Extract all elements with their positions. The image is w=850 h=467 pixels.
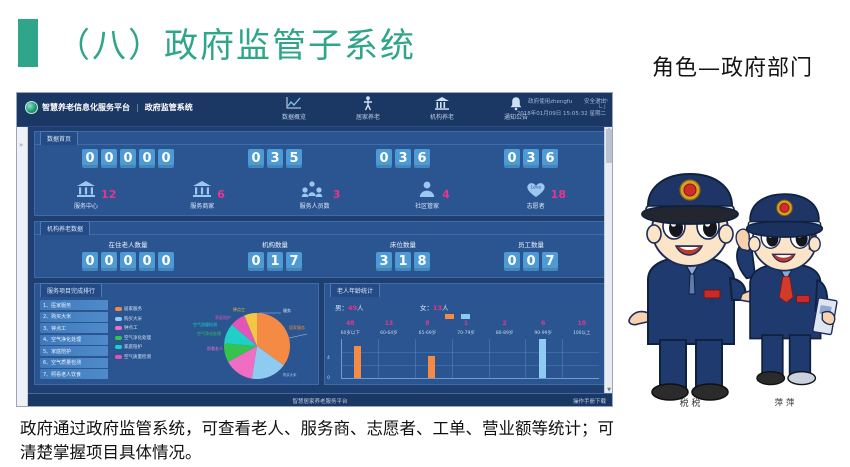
nav-label: 数据概览 <box>272 112 316 121</box>
stat-volunteer[interactable]: Love 志愿者 18 <box>489 178 601 210</box>
counter-digits: 0 0 0 0 0 <box>82 252 174 271</box>
list-item[interactable]: 6、空气质量检测 <box>40 358 108 368</box>
female-count: 女：13人 <box>420 302 449 312</box>
axis-tick: 80-89岁 <box>485 330 524 336</box>
legend-entry: 购买大米 <box>115 316 151 322</box>
overview-counters: 0 0 0 0 0 0 3 5 <box>35 145 605 174</box>
legend-label: 家庭陪护 <box>124 344 142 350</box>
legend-swatch <box>115 355 122 359</box>
dashboard-topnav: 智慧养老信息化服务平台 | 政府监管系统 数据概览 居家养老 <box>17 93 612 127</box>
legend-label: 钟点工 <box>124 325 138 331</box>
unit: 人 <box>442 304 449 312</box>
legend-label: 购买大米 <box>124 316 142 322</box>
axis-tick: 65-69岁 <box>408 330 447 336</box>
overview-tabrow: 数据首页 <box>35 132 605 145</box>
scrollbar-thumb[interactable] <box>606 129 612 163</box>
service-rank-list: 1、医家服务 2、购买大米 3、钟点工 4、空气净化处理 5、家庭陪护 6、空气… <box>40 300 108 381</box>
dashboard-screenshot: 智慧养老信息化服务平台 | 政府监管系统 数据概览 居家养老 <box>16 92 613 407</box>
digit: 7 <box>286 252 302 271</box>
bar-value-labels: 48 13 8 1 2 6 10 <box>331 320 601 327</box>
legend-swatch <box>115 345 122 349</box>
brand: 智慧养老信息化服务平台 | 政府监管系统 <box>25 101 193 114</box>
legend-label: 空气质量检测 <box>124 354 151 360</box>
list-item[interactable]: 1、医家服务 <box>40 300 108 310</box>
legend-swatch <box>115 307 122 311</box>
digit: 6 <box>542 149 558 168</box>
bar-value: 13 <box>370 320 409 327</box>
digit: 0 <box>376 149 392 168</box>
legend-label: 居家服务 <box>124 306 142 312</box>
counter-label: 在住老人数量 <box>82 239 174 249</box>
digit: 0 <box>82 252 98 271</box>
pie-chart: 服务 钟点工 家庭陪护 空气质量检测 空气净化处理 照看老人 居家服务 购买大米 <box>185 302 315 388</box>
dashboard-body: 数据首页 0 0 0 0 0 0 <box>28 127 612 406</box>
stat-service-merchant[interactable]: 服务商家 6 <box>151 178 263 210</box>
heart-love-icon: Love <box>524 178 548 200</box>
digit: 0 <box>248 149 264 168</box>
nav-items: 数据概览 居家养老 机构养老 <box>272 95 538 121</box>
digit: 7 <box>542 252 558 271</box>
svg-text:居家服务: 居家服务 <box>289 324 305 330</box>
legend-entry: 钟点工 <box>115 325 151 331</box>
counter-digits: 0 0 0 0 0 <box>82 149 174 168</box>
digit: 3 <box>376 252 392 271</box>
mascot-illustration: 税 税 <box>626 148 850 410</box>
legend-entry: 空气净化处理 <box>115 335 151 341</box>
brand-separator: | <box>136 103 139 112</box>
fullscreen-icon[interactable]: ⌐¬∟」 <box>598 98 609 110</box>
bar-legend <box>445 314 470 319</box>
nav-label: 居家养老 <box>346 112 390 121</box>
tab-age-statistics[interactable]: 老人年龄统计 <box>330 283 380 297</box>
axis-tick: 90-99岁 <box>524 330 563 336</box>
stat-label: 志愿者 <box>524 201 548 210</box>
bar-value: 10 <box>562 320 601 327</box>
person-walking-icon <box>346 95 390 111</box>
account-user: 政府使用zhengfu <box>528 99 572 105</box>
counter-digits: 0 3 6 <box>504 149 558 168</box>
counter-group: 0 3 5 <box>248 149 302 168</box>
institution-panel: 机构养老数据 在住老人数量 0 0 0 0 0 机构数量 <box>34 221 606 278</box>
tab-institution-data[interactable]: 机构养老数据 <box>40 221 90 235</box>
charts-row: 服务项目完成排行 1、医家服务 2、购买大米 3、钟点工 4、空气净化处理 5、… <box>34 283 606 385</box>
bank-building-icon <box>190 178 214 200</box>
digit: 0 <box>101 252 117 271</box>
page-title: （八）政府监管子系统 <box>18 18 416 67</box>
svg-text:家庭陪护: 家庭陪护 <box>215 314 231 320</box>
legend-entry: 家庭陪护 <box>115 344 151 350</box>
tab-data-home[interactable]: 数据首页 <box>40 131 78 145</box>
male-value: 49 <box>348 304 357 312</box>
counter-digits: 0 0 7 <box>504 252 558 271</box>
legend-swatch-male <box>445 314 454 319</box>
digit: 3 <box>267 149 283 168</box>
svg-text:照看老人: 照看老人 <box>207 345 223 351</box>
legend-label: 空气净化处理 <box>124 335 151 341</box>
counter-staff-count: 员工数量 0 0 7 <box>504 239 558 271</box>
counter-bed-count: 床位数量 3 1 8 <box>376 239 430 271</box>
list-item[interactable]: 7、照看老人饮食 <box>40 369 108 379</box>
service-ranking-panel: 服务项目完成排行 1、医家服务 2、购买大米 3、钟点工 4、空气净化处理 5、… <box>34 283 319 385</box>
bar-category-labels: 60岁以下 60-64岁 65-69岁 70-79岁 80-89岁 90-99岁… <box>331 330 601 336</box>
stat-label: 社区管家 <box>415 201 439 210</box>
stat-service-staff[interactable]: 服务人员数 3 <box>264 178 376 210</box>
mascot-name-1: 税 税 <box>680 397 701 409</box>
digit: 1 <box>395 252 411 271</box>
counter-institution-count: 机构数量 0 1 7 <box>248 239 302 271</box>
vertical-scrollbar[interactable]: ▲ ▼ <box>604 127 612 393</box>
account-area: 政府使用zhengfu 安全退出 2018年01月09日 15:05:32 星期… <box>517 97 606 117</box>
mascot-female: 萍 萍 <box>736 194 837 409</box>
male-count: 男：49人 <box>335 302 364 312</box>
legend-swatch-female <box>461 314 470 319</box>
bar-value: 1 <box>447 320 486 327</box>
people-group-icon <box>300 178 324 200</box>
list-item[interactable]: 4、空气净化处理 <box>40 335 108 345</box>
title-accent-bar <box>18 19 38 67</box>
bank-building-icon <box>74 178 98 200</box>
bank-building-icon <box>420 95 464 111</box>
legend-entry: 空气质量检测 <box>115 354 151 360</box>
role-subtitle: 角色—政府部门 <box>652 50 813 82</box>
svg-text:服务: 服务 <box>283 307 291 313</box>
legend-entry: 居家服务 <box>115 306 151 312</box>
digit: 5 <box>286 149 302 168</box>
institution-counters: 在住老人数量 0 0 0 0 0 机构数量 0 1 <box>35 235 605 277</box>
list-item[interactable]: 5、家庭陪护 <box>40 346 108 356</box>
title-text: （八）政府监管子系统 <box>56 18 416 67</box>
digit: 0 <box>139 252 155 271</box>
stat-label: 服务中心 <box>74 201 98 210</box>
stat-community-steward[interactable]: 社区管家 4 <box>376 178 488 210</box>
axis-tick: 60岁以下 <box>331 330 370 336</box>
stat-label: 服务商家 <box>190 201 214 210</box>
counter-resident-elderly: 在住老人数量 0 0 0 0 0 <box>82 239 174 271</box>
stat-value: 6 <box>217 188 225 201</box>
counter-label: 员工数量 <box>504 239 558 249</box>
bar-male-60under <box>354 346 361 378</box>
stat-value: 4 <box>442 188 450 201</box>
manual-download-link[interactable]: 操作手册下载 <box>573 397 606 405</box>
bar-female-90to99 <box>539 339 546 378</box>
svg-text:空气质量检测: 空气质量检测 <box>193 321 217 327</box>
counter-label: 床位数量 <box>376 239 430 249</box>
svg-text:空气净化处理: 空气净化处理 <box>197 330 221 336</box>
line-chart-icon <box>272 95 316 111</box>
legend-swatch <box>115 317 122 321</box>
list-item[interactable]: 3、钟点工 <box>40 323 108 333</box>
slide-root: （八）政府监管子系统 角色—政府部门 智慧养老信息化服务平台 | 政府监管系统 … <box>0 0 850 467</box>
svg-text:钟点工: 钟点工 <box>233 306 245 312</box>
legend-swatch <box>115 336 122 340</box>
digit: 0 <box>139 149 155 168</box>
overview-stat-row: 服务中心 12 服务商家 6 <box>35 174 605 215</box>
platform-logo-icon <box>25 101 38 114</box>
bar-value: 2 <box>485 320 524 327</box>
pie-legend: 居家服务 购买大米 钟点工 空气净化处理 家庭陪护 空气质量检测 <box>115 306 151 363</box>
counter-group: 0 3 6 <box>504 149 558 168</box>
digit: 6 <box>414 149 430 168</box>
overview-panel: 数据首页 0 0 0 0 0 0 <box>34 131 606 216</box>
stat-value: 3 <box>333 188 341 201</box>
nav-item-data-overview[interactable]: 数据概览 <box>272 95 316 121</box>
counter-group: 0 3 6 <box>376 149 430 168</box>
dashboard-footer: 智慧居家养老服务平台 操作手册下载 <box>28 393 612 406</box>
counter-digits: 0 3 6 <box>376 149 430 168</box>
legend-swatch <box>115 326 122 330</box>
clock-text: 2018年01月09日 15:05:32 星期二 <box>517 109 606 117</box>
bar-plot-area <box>341 339 599 379</box>
digit: 0 <box>101 149 117 168</box>
svg-text:购买大米: 购买大米 <box>283 372 297 377</box>
sidebar-collapse-rail[interactable]: » <box>17 127 28 406</box>
counter-digits: 0 3 5 <box>248 149 302 168</box>
stat-value: 12 <box>101 188 116 201</box>
nav-item-institution-care[interactable]: 机构养老 <box>420 95 464 121</box>
female-value: 13 <box>433 304 442 312</box>
nav-label: 机构养老 <box>420 112 464 121</box>
digit: 0 <box>158 149 174 168</box>
bar-value: 8 <box>408 320 447 327</box>
digit: 3 <box>395 149 411 168</box>
digit: 0 <box>120 149 136 168</box>
stat-label: 服务人员数 <box>300 201 330 210</box>
stat-value: 18 <box>551 188 566 201</box>
svg-text:Love: Love <box>530 185 541 191</box>
brand-name: 智慧养老信息化服务平台 <box>42 102 130 113</box>
counter-digits: 3 1 8 <box>376 252 430 271</box>
female-label: 女： <box>420 304 433 312</box>
counter-group: 0 0 0 0 0 <box>82 149 174 168</box>
digit: 3 <box>523 149 539 168</box>
person-icon <box>415 178 439 200</box>
axis-tick: 60-64岁 <box>370 330 409 336</box>
digit: 8 <box>414 252 430 271</box>
slide-caption: 政府通过政府监管系统，可查看老人、服务商、志愿者、工单、营业额等统计；可清楚掌握… <box>20 418 620 466</box>
list-item[interactable]: 2、购买大米 <box>40 312 108 322</box>
digit: 0 <box>523 252 539 271</box>
digit: 0 <box>248 252 264 271</box>
footer-platform-name: 智慧居家养老服务平台 <box>28 397 612 405</box>
bar-value: 48 <box>331 320 370 327</box>
brand-subsystem: 政府监管系统 <box>145 102 193 113</box>
digit: 1 <box>267 252 283 271</box>
bar-male-65to69 <box>428 356 435 378</box>
nav-item-home-care[interactable]: 居家养老 <box>346 95 390 121</box>
digit: 0 <box>158 252 174 271</box>
digit: 0 <box>504 149 520 168</box>
digit: 0 <box>504 252 520 271</box>
chevron-right-icon: » <box>19 141 23 149</box>
tab-service-ranking[interactable]: 服务项目完成排行 <box>40 283 102 297</box>
mascot-name-2: 萍 萍 <box>775 398 795 409</box>
digit: 0 <box>82 149 98 168</box>
institution-tabrow: 机构养老数据 <box>35 222 605 235</box>
bar-value: 6 <box>524 320 563 327</box>
counter-label: 机构数量 <box>248 239 302 249</box>
age-distribution-panel: 老人年龄统计 男：49人 女：13人 48 13 8 <box>324 283 606 385</box>
axis-tick: 100以上 <box>562 330 601 336</box>
stat-service-center[interactable]: 服务中心 12 <box>39 178 151 210</box>
mascot-male: 税 税 <box>629 174 767 409</box>
counter-digits: 0 1 7 <box>248 252 302 271</box>
digit: 0 <box>120 252 136 271</box>
axis-tick: 70-79岁 <box>447 330 486 336</box>
unit: 人 <box>357 304 364 312</box>
male-label: 男： <box>335 304 348 312</box>
